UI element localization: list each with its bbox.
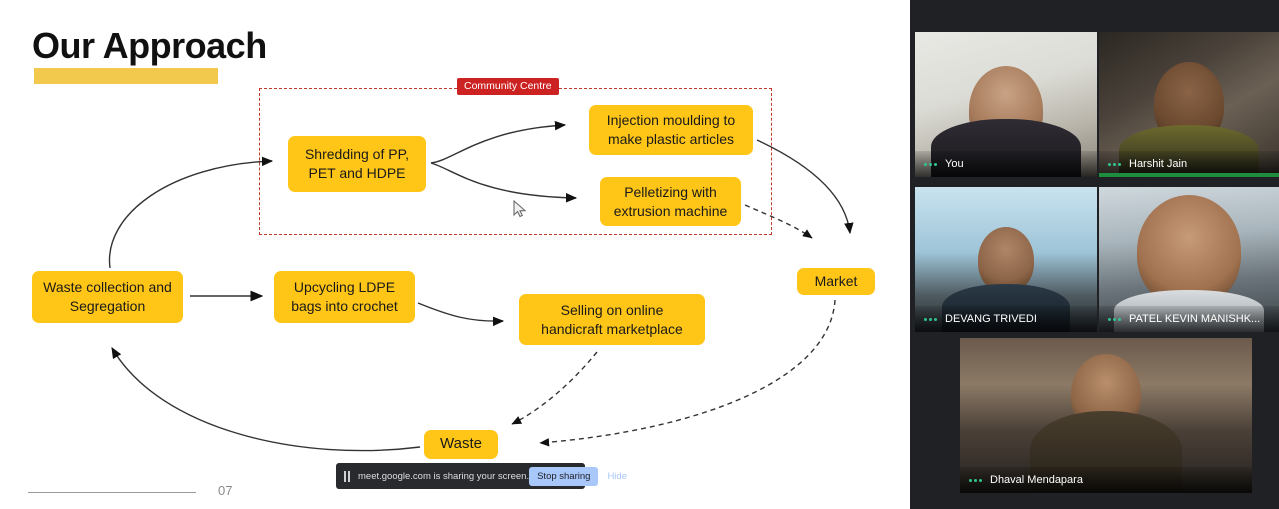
participant-video-panel: You Harshit Jain DEVANG TRIVEDI: [910, 0, 1279, 509]
mic-active-icon: [969, 479, 982, 482]
participant-name: You: [945, 158, 964, 170]
node-pelletizing[interactable]: Pelletizing with extrusion machine: [600, 177, 741, 226]
node-waste-collection[interactable]: Waste collection and Segregation: [32, 271, 183, 323]
title-highlight-bar: [34, 68, 218, 84]
shared-slide: Our Approach Community Centre: [0, 0, 910, 509]
stop-sharing-button[interactable]: Stop sharing: [529, 467, 598, 486]
node-market[interactable]: Market: [797, 268, 875, 295]
mouse-cursor-icon: [513, 200, 529, 220]
hide-button[interactable]: Hide: [607, 471, 627, 482]
node-waste[interactable]: Waste: [424, 430, 498, 459]
node-upcycling-ldpe[interactable]: Upcycling LDPE bags into crochet: [274, 271, 415, 323]
active-speaker-indicator: [1099, 173, 1279, 177]
mic-active-icon: [924, 163, 937, 166]
page-title: Our Approach: [32, 28, 267, 64]
screen-share-bar: meet.google.com is sharing your screen. …: [336, 463, 585, 489]
community-centre-label: Community Centre: [457, 78, 559, 95]
pause-icon[interactable]: [343, 471, 352, 482]
tile-label: DEVANG TRIVEDI: [915, 306, 1097, 332]
video-tile-you[interactable]: You: [915, 32, 1097, 177]
node-injection-moulding[interactable]: Injection moulding to make plastic artic…: [589, 105, 753, 155]
video-tile-patel-kevin[interactable]: PATEL KEVIN MANISHK...: [1099, 187, 1279, 332]
participant-name: PATEL KEVIN MANISHK...: [1129, 313, 1260, 325]
meeting-screen-share-view: Our Approach Community Centre: [0, 0, 1279, 509]
video-tile-harshit-jain[interactable]: Harshit Jain: [1099, 32, 1279, 177]
video-tile-devang-trivedi[interactable]: DEVANG TRIVEDI: [915, 187, 1097, 332]
slide-page-number: 07: [218, 483, 232, 498]
participant-name: DEVANG TRIVEDI: [945, 313, 1037, 325]
slide-title-block: Our Approach: [32, 28, 267, 64]
tile-label: PATEL KEVIN MANISHK...: [1099, 306, 1279, 332]
video-tile-dhaval-mendapara[interactable]: Dhaval Mendapara: [960, 338, 1252, 493]
participant-name: Dhaval Mendapara: [990, 474, 1083, 486]
tile-label: You: [915, 151, 1097, 177]
mic-active-icon: [924, 318, 937, 321]
tile-label: Dhaval Mendapara: [960, 467, 1252, 493]
node-selling-online[interactable]: Selling on online handicraft marketplace: [519, 294, 705, 345]
mic-active-icon: [1108, 163, 1121, 166]
footer-divider: [28, 492, 196, 493]
share-status-text: meet.google.com is sharing your screen.: [358, 471, 529, 482]
mic-active-icon: [1108, 318, 1121, 321]
node-shredding[interactable]: Shredding of PP, PET and HDPE: [288, 136, 426, 192]
participant-name: Harshit Jain: [1129, 158, 1187, 170]
